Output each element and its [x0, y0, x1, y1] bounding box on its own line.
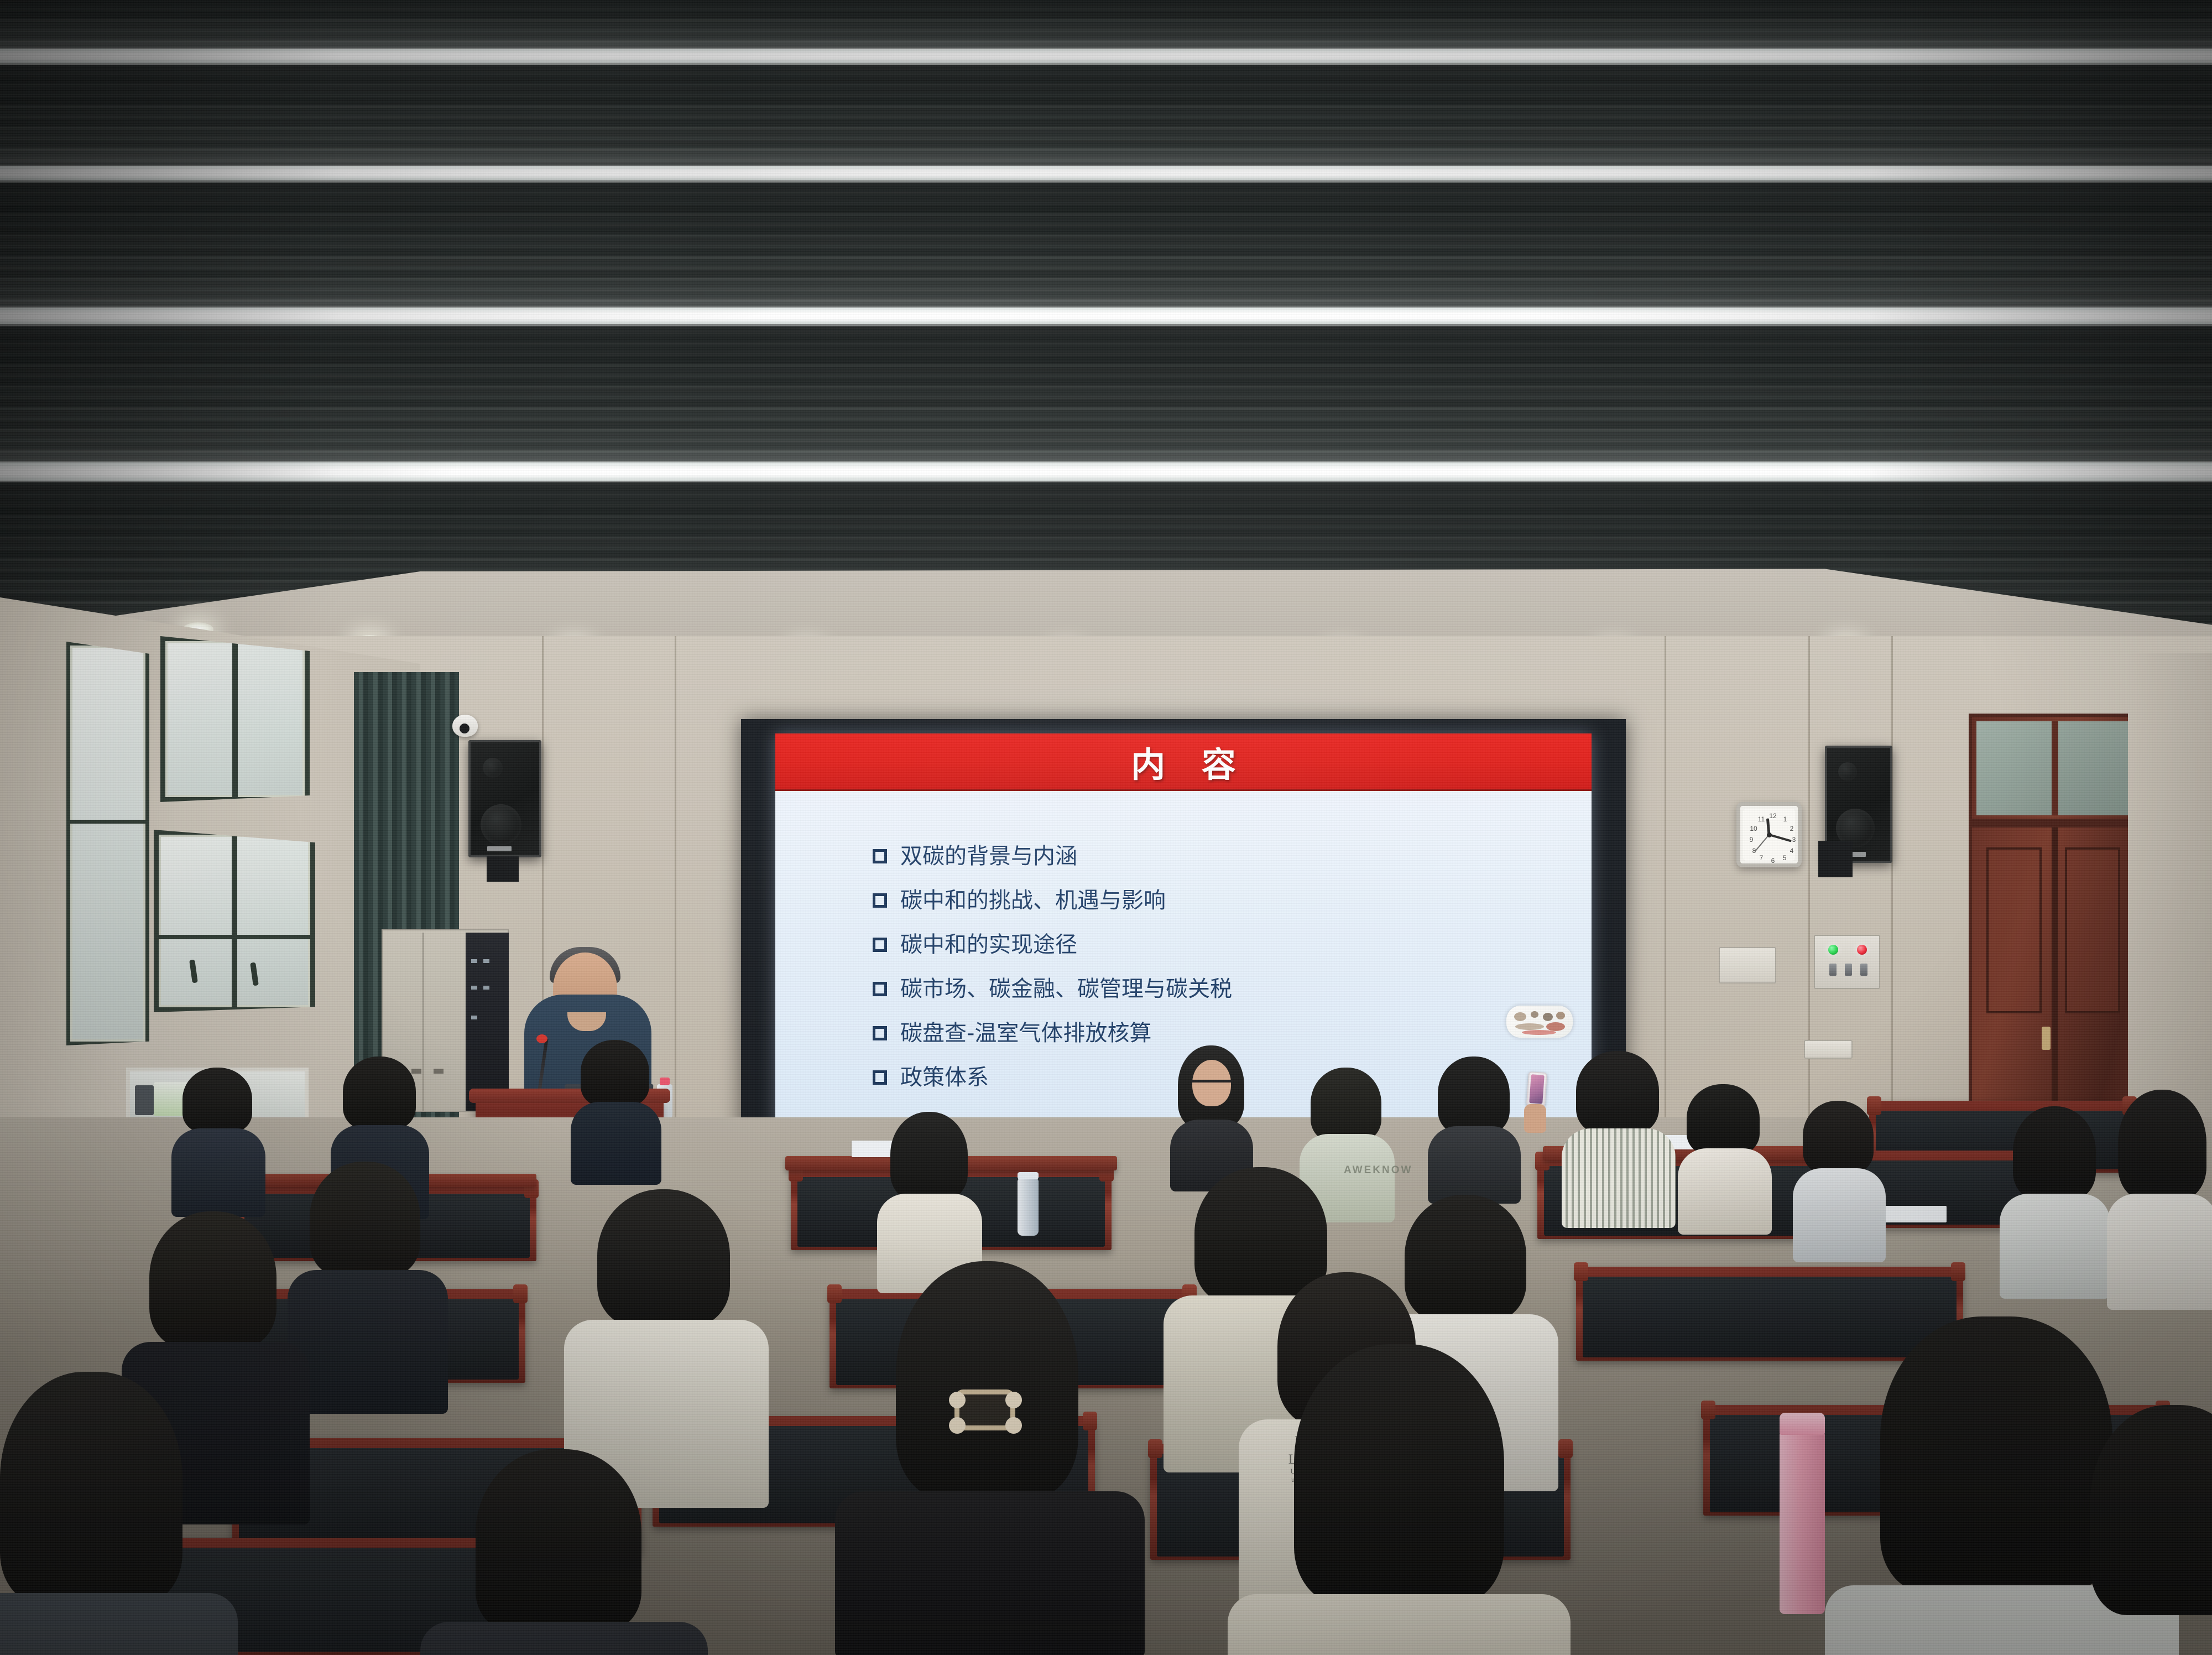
slide-bullet-item: 双碳的背景与内涵 — [873, 844, 1592, 868]
slide-title: 内 容 — [1119, 737, 1248, 787]
wall-clock: 12 1 2 3 4 5 6 7 8 9 10 11 — [1736, 802, 1802, 867]
clock-number: 2 — [1787, 825, 1796, 832]
slide-bullet-item: 碳中和的实现途径 — [873, 933, 1592, 957]
slide-title-bar: 内 容 — [775, 733, 1592, 791]
clock-number: 9 — [1747, 836, 1756, 843]
indicator-led-green — [1828, 945, 1838, 955]
hand-holding-phone — [1524, 1104, 1546, 1133]
checkbox-bullet-icon — [873, 1026, 887, 1040]
clock-number: 11 — [1757, 816, 1766, 823]
smartphone[interactable] — [1526, 1071, 1547, 1107]
speaker-bracket — [1818, 841, 1853, 877]
clock-number: 5 — [1780, 855, 1789, 861]
hair-clip-bead — [1005, 1417, 1022, 1434]
light-switch-plate[interactable] — [1804, 1040, 1853, 1059]
slide-bullet-text: 碳市场、碳金融、碳管理与碳关税 — [900, 977, 1232, 1001]
checkbox-bullet-icon — [873, 938, 887, 952]
slide-bullet-text: 碳盘查-温室气体排放核算 — [900, 1021, 1151, 1045]
door-rail — [1972, 819, 2131, 827]
wall-speaker-left — [468, 740, 541, 857]
clock-number: 12 — [1768, 813, 1777, 819]
checkbox-bullet-icon — [873, 893, 887, 908]
clock-minute-hand — [1768, 834, 1791, 842]
toggle-switch[interactable] — [1829, 964, 1837, 976]
slide-bullet-item: 碳市场、碳金融、碳管理与碳关税 — [873, 977, 1592, 1001]
light-switch-plate[interactable] — [1719, 947, 1776, 983]
slatted-ceiling — [0, 0, 2212, 653]
window-side — [66, 642, 149, 1045]
hair-clip-bead — [1005, 1392, 1022, 1408]
slide-corner-emblem — [1506, 1006, 1573, 1038]
clock-second-hand — [1755, 834, 1770, 852]
checkbox-bullet-icon — [873, 849, 887, 863]
bench-row — [1576, 1267, 1963, 1361]
checkbox-bullet-icon — [873, 982, 887, 996]
checkbox-bullet-icon — [873, 1070, 887, 1085]
slide-bullet-text: 碳中和的实现途径 — [900, 933, 1077, 957]
hair-clip-bead — [949, 1392, 966, 1408]
window-lower — [154, 830, 315, 1012]
water-bottle — [1018, 1178, 1039, 1236]
hair-clip-bead — [949, 1417, 966, 1434]
clock-face: 12 1 2 3 4 5 6 7 8 9 10 11 — [1743, 809, 1795, 861]
toggle-switch[interactable] — [1860, 964, 1867, 976]
clock-center-pin — [1767, 832, 1772, 837]
clock-number: 7 — [1757, 855, 1766, 861]
shelf-box — [135, 1085, 154, 1115]
thermos-bottle — [1780, 1432, 1825, 1614]
door-transom-mullion — [2052, 721, 2058, 815]
lecture-hall-scene: 12 1 2 3 4 5 6 7 8 9 10 11 — [0, 0, 2212, 1655]
slide-bullet-item: 碳中和的挑战、机遇与影响 — [873, 888, 1592, 913]
window-upper — [160, 636, 310, 802]
microphone-icon — [536, 1034, 547, 1043]
door-panel — [2065, 847, 2120, 1013]
clock-number: 4 — [1787, 847, 1796, 854]
toggle-switch[interactable] — [1845, 964, 1852, 976]
slide-bullet-text: 碳中和的挑战、机遇与影响 — [900, 888, 1166, 913]
clock-number: 1 — [1781, 816, 1790, 823]
slide-bullet-item: 碳盘查-温室气体排放核算 — [873, 1021, 1592, 1045]
thermos-cap — [1780, 1413, 1825, 1435]
clock-number: 10 — [1749, 825, 1758, 832]
slide-bullet-text: 双碳的背景与内涵 — [900, 844, 1077, 868]
indicator-led-red — [1857, 945, 1867, 955]
door-handle[interactable] — [2042, 1027, 2051, 1050]
speaker-bracket — [487, 856, 519, 882]
door-panel — [1986, 847, 2042, 1013]
wall-control-panel[interactable] — [1814, 935, 1880, 989]
slide-bullet-text: 政策体系 — [900, 1065, 989, 1090]
jacket-print-text: AWEKNOW — [1344, 1164, 1412, 1177]
clock-number: 6 — [1768, 857, 1777, 864]
cctv-dome-camera — [452, 715, 478, 737]
